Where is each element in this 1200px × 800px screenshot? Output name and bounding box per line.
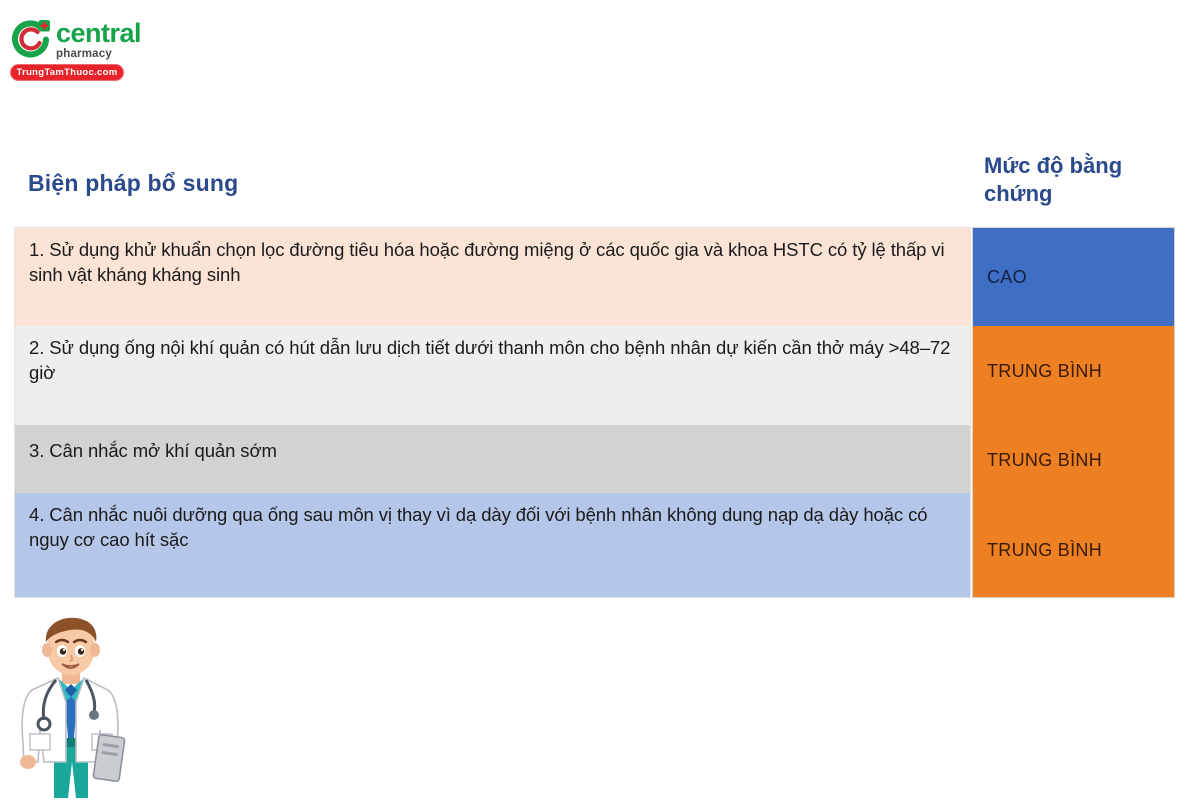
cartoon-doctor-icon (8, 612, 134, 798)
evidence-header-line1: Mức độ bằng (984, 153, 1122, 178)
table-row: 4. Cân nhắc nuôi dưỡng qua ống sau môn v… (15, 493, 970, 597)
evidence-column-header: Mức độ bằng chứng (984, 152, 1184, 208)
central-pharmacy-logo-icon (8, 16, 54, 62)
evidence-badge-high: CAO (973, 228, 1174, 326)
evidence-badge-medium: TRUNG BÌNH (973, 417, 1174, 503)
brand-website-badge: TrungTamThuoc.com (10, 64, 124, 81)
table-row: 1. Sử dụng khử khuẩn chọn lọc đường tiêu… (15, 228, 970, 326)
evidence-header-line2: chứng (984, 181, 1052, 206)
evidence-badge-medium: TRUNG BÌNH (973, 503, 1174, 597)
table-row: 3. Cân nhắc mở khí quản sớm (15, 425, 970, 493)
brand-name: central (56, 20, 141, 47)
brand-logo: central pharmacy TrungTamThuoc.com (4, 14, 144, 86)
measures-table: 1. Sử dụng khử khuẩn chọn lọc đường tiêu… (14, 227, 971, 598)
table-row: 2. Sử dụng ống nội khí quản có hút dẫn l… (15, 326, 970, 425)
brand-wordmark: central pharmacy (56, 20, 141, 61)
brand-subtitle: pharmacy (56, 49, 141, 61)
evidence-badge-medium: TRUNG BÌNH (973, 326, 1174, 417)
evidence-level-column: CAO TRUNG BÌNH TRUNG BÌNH TRUNG BÌNH (972, 227, 1175, 598)
measures-column-header: Biện pháp bổ sung (28, 170, 238, 197)
